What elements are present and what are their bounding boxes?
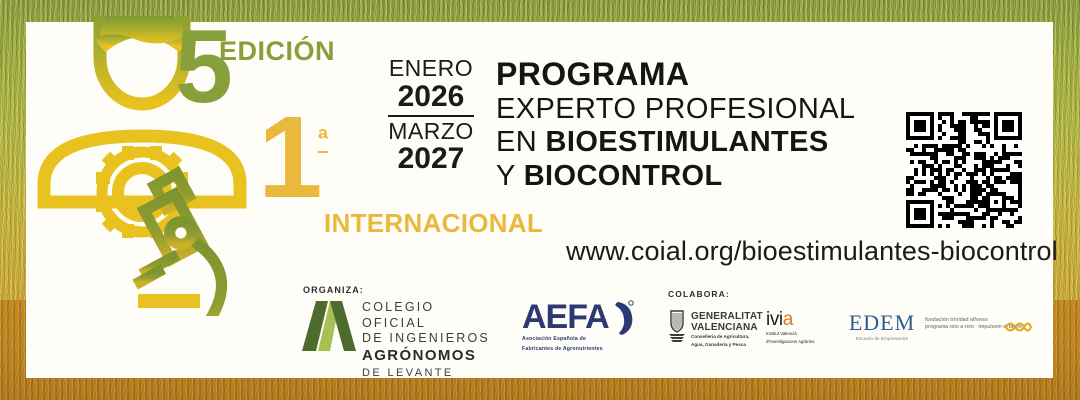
organiza-heading: ORGANIZA:: [303, 285, 364, 295]
program-title: PROGRAMA EXPERTO PROFESIONAL EN BIOESTIM…: [496, 57, 855, 194]
title-line-3-prefix: EN: [496, 126, 546, 158]
qr-code[interactable]: [906, 112, 1022, 228]
coial-logo-text: COLEGIO OFICIAL DE INGENIEROS AGRÓNOMOS …: [362, 300, 500, 380]
gva-line-2: VALENCIANA: [691, 322, 763, 333]
gva-sub-1: Conselleria de Agricultura,: [691, 334, 763, 340]
date-range: ENERO 2026 MARZO 2027: [388, 56, 474, 175]
coial-line-2: DE INGENIEROS: [362, 331, 500, 347]
date-divider: [388, 115, 474, 117]
ivia-sub-2: d'Investigacions Agràries: [766, 339, 836, 345]
ivia-sub-1: Institut Valencià: [766, 331, 836, 337]
aefa-logo: AEFA Asociación Española de Fabricantes …: [522, 300, 642, 352]
colabora-heading: COLABORA:: [668, 289, 730, 299]
title-line-4-strong: BIOCONTROL: [524, 160, 723, 192]
organiza-section: ORGANIZA:: [303, 285, 364, 295]
coial-logo: COLEGIO OFICIAL DE INGENIEROS AGRÓNOMOS …: [300, 297, 500, 355]
gva-sub-2: Agua, Ganadería y Pesca: [691, 342, 763, 348]
edem-wordmark: EDEM: [843, 312, 921, 334]
website-url[interactable]: www.coial.org/bioestimulantes-biocontrol: [566, 236, 1058, 267]
coial-line-1: COLEGIO OFICIAL: [362, 300, 500, 331]
gva-shield-icon: [667, 310, 687, 344]
start-year: 2026: [388, 81, 474, 113]
coial-line-3: AGRÓNOMOS: [362, 347, 500, 366]
title-line-4-prefix: Y: [496, 160, 524, 192]
start-month: ENERO: [388, 56, 474, 81]
edem-sub: Escuela de Empresarios: [843, 336, 921, 341]
edition-label: EDICIÓN: [219, 36, 335, 67]
title-line-3-strong: BIOESTIMULANTES: [546, 126, 829, 158]
gva-line-1: GENERALITAT: [691, 311, 763, 322]
ivia-wordmark: ivia: [766, 310, 836, 329]
generalitat-valenciana-logo: GENERALITAT VALENCIANA Conselleria de Ag…: [667, 310, 763, 346]
aefa-tagline-2: Fabricantes de Agronutrientes: [522, 346, 642, 354]
coial-line-4: DE LEVANTE: [362, 366, 500, 380]
title-line-1: PROGRAMA: [496, 57, 855, 93]
end-month: MARZO: [388, 119, 474, 144]
qr-code-image: [906, 112, 1022, 228]
edem-logo: EDEM Escuela de Empresarios: [843, 312, 921, 341]
ivia-logo: ivia Institut Valencià d'Investigacions …: [766, 310, 836, 346]
international-number: 1: [258, 104, 319, 211]
international-ordinal: ª: [318, 124, 328, 155]
international-label: INTERNACIONAL: [324, 208, 543, 239]
event-banner: 5 EDICIÓN 1 ª INTERNACIONAL ENERO 2026 M…: [0, 0, 1080, 400]
title-line-4: Y BIOCONTROL: [496, 160, 855, 194]
aefa-bird-icon: [598, 298, 638, 338]
fundacion-trinidad-alfonso-logo: fundación trinidad alfonso programa reto…: [925, 317, 1033, 341]
title-line-2: EXPERTO PROFESIONAL: [496, 93, 855, 127]
ivia-word-accent: a: [783, 309, 793, 330]
fundacion-loop-icon: [1003, 318, 1033, 336]
title-line-3: EN BIOESTIMULANTES: [496, 126, 855, 160]
ivia-word-start: ivi: [766, 309, 783, 330]
coial-logo-mark: [300, 299, 358, 353]
end-year: 2027: [388, 143, 474, 175]
edition-number: 5: [175, 20, 229, 116]
